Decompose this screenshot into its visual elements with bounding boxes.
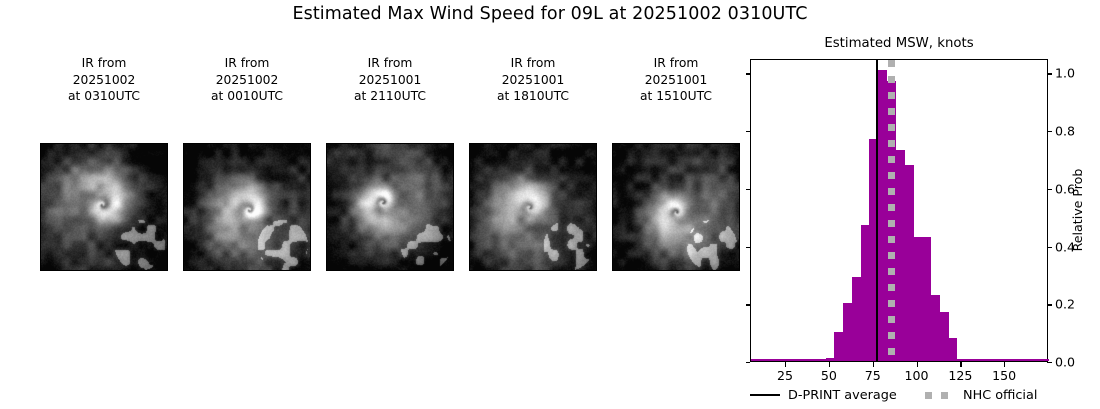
y-tick-label: 0.8	[1055, 124, 1075, 139]
y-tick-mark-right	[1047, 189, 1052, 190]
nhc-official-line	[888, 60, 895, 361]
satellite-panel-caption: IR from 20251002 at 0010UTC	[176, 55, 318, 105]
satellite-panel-caption: IR from 20251002 at 0310UTC	[33, 55, 175, 105]
legend-item-dprint[interactable]: D-PRINT average	[750, 385, 897, 405]
satellite-image	[612, 143, 740, 271]
histogram-plot	[750, 59, 1048, 362]
x-tick-mark	[917, 362, 918, 367]
x-tick-label: 75	[853, 368, 893, 383]
satellite-image	[326, 143, 454, 271]
y-tick-mark-right	[1047, 131, 1052, 132]
satellite-panel-3: IR from 20251001 at 2110UTC	[319, 55, 461, 105]
satellite-image	[469, 143, 597, 271]
satellite-panel-5: IR from 20251001 at 1510UTC	[605, 55, 747, 105]
legend-item-nhc[interactable]: NHC official	[925, 385, 1037, 405]
satellite-panel-strip: IR from 20251002 at 0310UTCIR from 20251…	[0, 55, 740, 285]
legend-label-nhc: NHC official	[963, 388, 1037, 403]
reference-lines	[751, 60, 1047, 361]
y-tick-mark-right	[1047, 304, 1052, 305]
y-tick-mark-left	[746, 189, 751, 190]
x-tick-label: 25	[765, 368, 805, 383]
y-axis-label: Relative Prob	[1070, 169, 1085, 252]
y-tick-mark-left	[746, 131, 751, 132]
satellite-panel-caption: IR from 20251001 at 1810UTC	[462, 55, 604, 105]
y-tick-mark-right	[1047, 247, 1052, 248]
chart-legend: D-PRINT average NHC official	[750, 385, 1080, 407]
satellite-panel-caption: IR from 20251001 at 2110UTC	[319, 55, 461, 105]
y-tick-mark-left	[746, 304, 751, 305]
x-tick-label: 150	[984, 368, 1024, 383]
satellite-image-canvas	[613, 144, 739, 270]
satellite-panel-2: IR from 20251002 at 0010UTC	[176, 55, 318, 105]
satellite-image-canvas	[327, 144, 453, 270]
satellite-image	[40, 143, 168, 271]
x-tick-label: 100	[897, 368, 937, 383]
y-tick-label: 1.0	[1055, 66, 1075, 81]
satellite-image-canvas	[184, 144, 310, 270]
y-tick-label: 0.2	[1055, 297, 1075, 312]
satellite-panel-1: IR from 20251002 at 0310UTC	[33, 55, 175, 105]
x-tick-mark	[960, 362, 961, 367]
x-tick-mark	[873, 362, 874, 367]
chart-title: Estimated MSW, knots	[750, 36, 1048, 51]
y-tick-label: 0.0	[1055, 355, 1075, 370]
solid-line-icon	[750, 394, 780, 396]
x-tick-mark	[829, 362, 830, 367]
satellite-panel-caption: IR from 20251001 at 1510UTC	[605, 55, 747, 105]
dotted-line-icon	[925, 392, 955, 399]
y-tick-mark-left	[746, 362, 751, 363]
x-tick-mark	[785, 362, 786, 367]
dprint-average-line	[876, 60, 878, 361]
page-title: Estimated Max Wind Speed for 09L at 2025…	[0, 4, 1100, 24]
y-tick-mark-right	[1047, 73, 1052, 74]
x-tick-label: 50	[809, 368, 849, 383]
x-tick-mark	[1004, 362, 1005, 367]
y-tick-mark-left	[746, 73, 751, 74]
satellite-image-canvas	[41, 144, 167, 270]
legend-label-dprint: D-PRINT average	[788, 388, 897, 403]
x-tick-label: 125	[940, 368, 980, 383]
y-tick-mark-right	[1047, 362, 1052, 363]
satellite-image-canvas	[470, 144, 596, 270]
y-tick-mark-left	[746, 247, 751, 248]
satellite-image	[183, 143, 311, 271]
satellite-panel-4: IR from 20251001 at 1810UTC	[462, 55, 604, 105]
